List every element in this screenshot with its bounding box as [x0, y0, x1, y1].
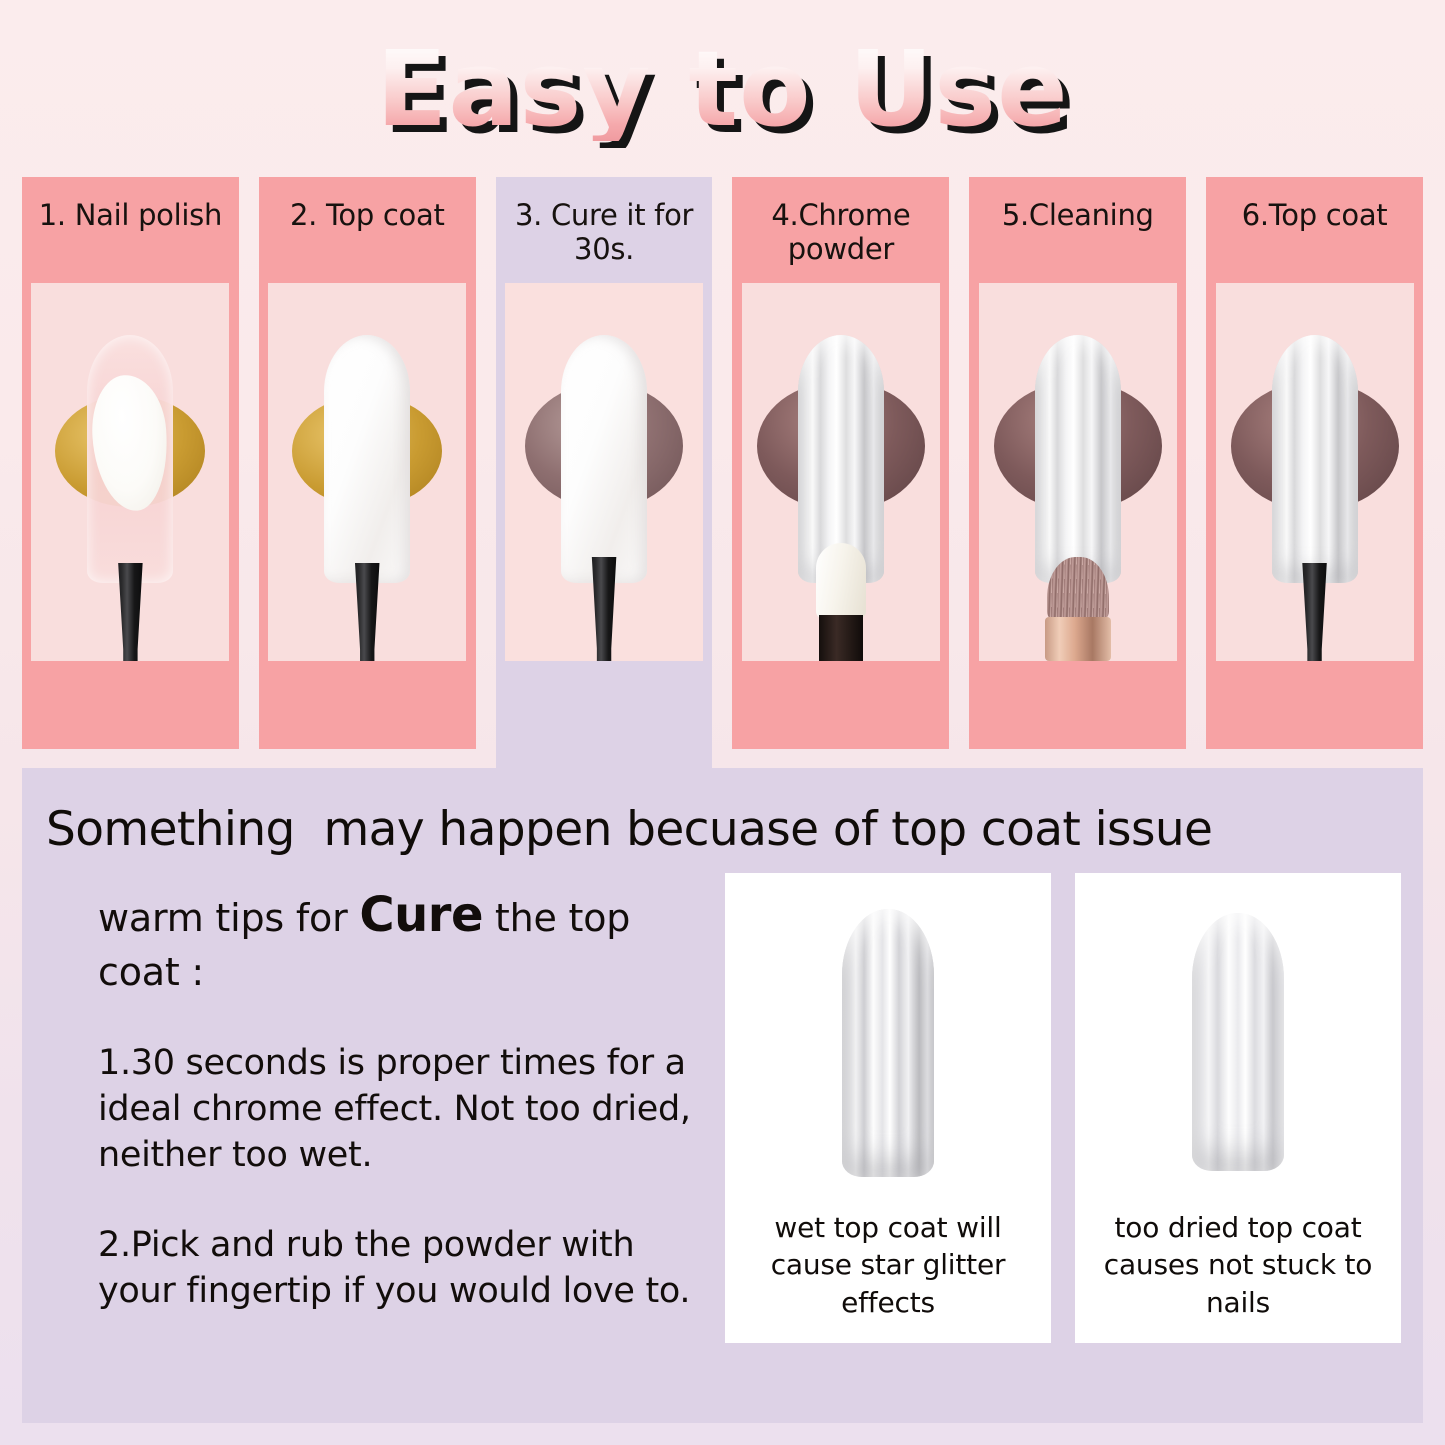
- compare-card-dried: too dried top coat causes not stuck to n…: [1075, 873, 1401, 1343]
- steps-strip: 1. Nail polish 2. Top coat 3. Cure it fo…: [22, 177, 1423, 749]
- nail-tip-icon: [324, 335, 410, 583]
- tips-lead-before: warm tips for: [98, 896, 359, 940]
- tip-item-2: 2.Pick and rub the powder with your fing…: [98, 1223, 699, 1315]
- page-title: Easy to Use: [376, 37, 1068, 141]
- tips-lead-emphasis: Cure: [359, 887, 483, 943]
- step-card-6: 6.Top coat: [1206, 177, 1423, 749]
- compare-card-wet: wet top coat will cause star glitter eff…: [725, 873, 1051, 1343]
- applicator-handle-icon: [819, 615, 863, 661]
- step-photo-3: [505, 283, 703, 661]
- step-card-1: 1. Nail polish: [22, 177, 239, 749]
- chrome-nail-icon: [1035, 335, 1121, 583]
- step-title-6: 6.Top coat: [1206, 177, 1423, 281]
- compare-caption-wet: wet top coat will cause star glitter eff…: [725, 1203, 1051, 1322]
- step-photo-6: [1216, 283, 1414, 661]
- chrome-nail-icon: [1192, 913, 1284, 1171]
- page-header: Easy to Use: [0, 24, 1445, 154]
- compare-photo-dried: [1075, 873, 1401, 1203]
- cleaning-brush-icon: [1039, 557, 1117, 661]
- chrome-nail-icon: [1272, 335, 1358, 583]
- panel-heading: Something may happen becuase of top coat…: [22, 768, 1423, 856]
- step-card-2: 2. Top coat: [259, 177, 476, 749]
- brush-bristles-icon: [1047, 557, 1109, 623]
- topcoat-issue-panel: Something may happen becuase of top coat…: [22, 768, 1423, 1423]
- step-title-1: 1. Nail polish: [22, 177, 239, 281]
- nail-tip-icon: [561, 335, 647, 583]
- compare-caption-dried: too dried top coat causes not stuck to n…: [1075, 1203, 1401, 1322]
- panel-body: warm tips for Cure the top coat : 1.30 s…: [22, 872, 1423, 1343]
- step-title-3: 3. Cure it for 30s.: [496, 177, 713, 281]
- step-card-4: 4.Chrome powder: [732, 177, 949, 749]
- step-title-4: 4.Chrome powder: [732, 177, 949, 281]
- step-photo-5: [979, 283, 1177, 661]
- compare-block: wet top coat will cause star glitter eff…: [725, 873, 1401, 1343]
- step-photo-4: [742, 283, 940, 661]
- compare-photo-wet: [725, 873, 1051, 1203]
- step-photo-2: [268, 283, 466, 661]
- tips-lead: warm tips for Cure the top coat :: [98, 884, 699, 998]
- step-photo-1: [31, 283, 229, 661]
- step-title-5: 5.Cleaning: [969, 177, 1186, 281]
- tip-item-1: 1.30 seconds is proper times for a ideal…: [98, 1041, 699, 1179]
- sponge-applicator-icon: [816, 543, 866, 619]
- warm-tips-block: warm tips for Cure the top coat : 1.30 s…: [44, 872, 699, 1343]
- step-card-3: 3. Cure it for 30s.: [496, 177, 713, 768]
- step-title-2: 2. Top coat: [259, 177, 476, 281]
- step-card-5: 5.Cleaning: [969, 177, 1186, 749]
- brush-ferrule-icon: [1045, 617, 1111, 661]
- chrome-nail-icon: [842, 909, 934, 1177]
